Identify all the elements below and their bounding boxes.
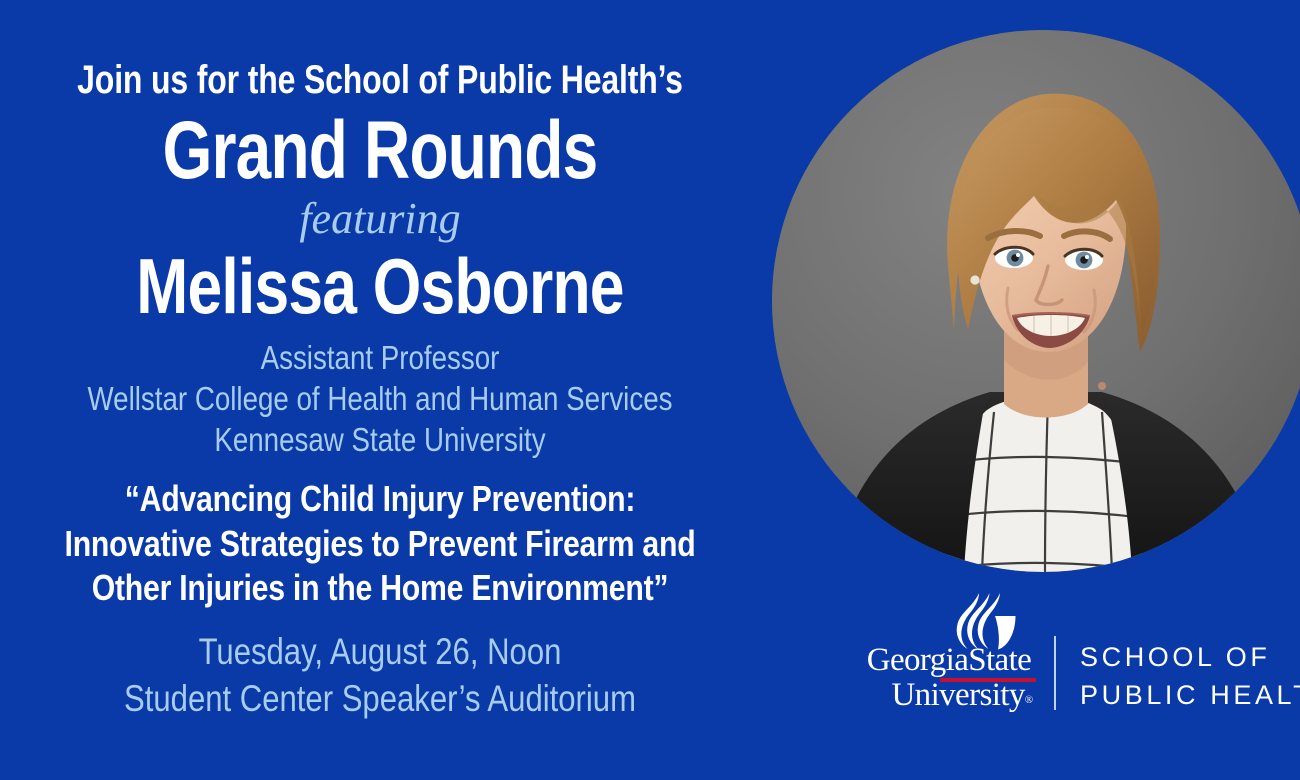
talk-title-line: “Advancing Child Injury Prevention:: [61, 477, 699, 522]
featuring-label: featuring: [0, 197, 760, 241]
gsu-wordmark-top: GeorgiaState: [858, 644, 1040, 677]
affiliation-line: Assistant Professor: [61, 338, 699, 379]
intro-line: Join us for the School of Public Health’…: [76, 60, 684, 100]
event-datetime: Tuesday, August 26, Noon: [61, 628, 699, 675]
school-of-public-health-lockup: SCHOOL OF PUBLIC HEALTH: [1080, 638, 1300, 715]
sph-line-2: PUBLIC HEALTH: [1080, 676, 1300, 714]
grand-rounds-flyer: Join us for the School of Public Health’…: [0, 0, 1300, 780]
affiliation-line: Kennesaw State University: [61, 420, 699, 461]
sph-line-1: SCHOOL OF: [1080, 638, 1300, 676]
registered-mark: ®: [1025, 694, 1033, 706]
event-location: Student Center Speaker’s Auditorium: [61, 675, 699, 722]
gsu-school-of-public-health-logo: GeorgiaState University® SCHOOL OF PUBLI…: [858, 592, 1278, 720]
affiliation-line: Wellstar College of Health and Human Ser…: [61, 379, 699, 420]
gsu-wordmark: GeorgiaState University®: [858, 644, 1040, 712]
talk-title: “Advancing Child Injury Prevention: Inno…: [61, 477, 699, 611]
talk-title-line: Other Injuries in the Home Environment”: [61, 566, 699, 611]
speaker-affiliation: Assistant Professor Wellstar College of …: [61, 338, 699, 461]
talk-title-line: Innovative Strategies to Prevent Firearm…: [61, 522, 699, 567]
flyer-text-column: Join us for the School of Public Health’…: [0, 0, 760, 780]
georgia-state-university-mark: GeorgiaState University®: [858, 592, 1040, 720]
gsu-wordmark-bottom: University®: [858, 679, 1040, 712]
speaker-portrait: [772, 30, 1300, 572]
gsu-wordmark-bottom-text: University: [891, 677, 1024, 713]
event-details: Tuesday, August 26, Noon Student Center …: [61, 628, 699, 723]
speaker-portrait-image: [772, 30, 1300, 572]
event-name-title: Grand Rounds: [84, 110, 677, 192]
speaker-name: Melissa Osborne: [76, 247, 684, 325]
logo-divider: [1054, 636, 1056, 710]
